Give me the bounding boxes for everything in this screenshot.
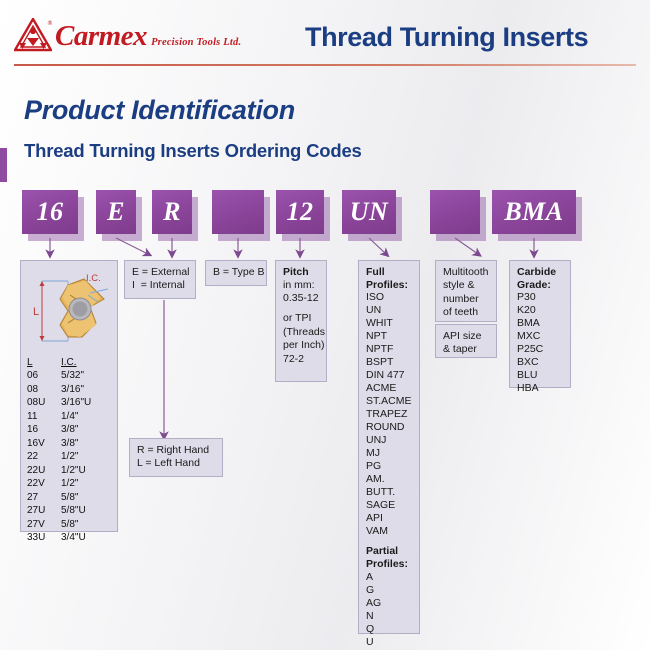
brand-name: Carmex: [55, 22, 147, 51]
pitch-title: Pitch: [283, 266, 319, 279]
svg-text:I.C.: I.C.: [86, 273, 101, 284]
hand-direction-line-0: R = Right Hand: [137, 444, 215, 457]
full-profile-item-10: ROUND: [366, 421, 412, 434]
partial-profiles-title: PartialProfiles:: [366, 545, 412, 570]
code-box-blank-3[interactable]: [212, 190, 264, 234]
page-title: Product Identification: [24, 95, 295, 126]
carbide-grade-title-line-1: Grade:: [517, 279, 563, 292]
external-internal-lines: E = ExternalI = Internal: [132, 266, 188, 293]
partial-profiles-title-line-0: Partial: [366, 545, 412, 558]
partial-profiles-title-line-1: Profiles:: [366, 558, 412, 571]
pitch-line-0: in mm:: [283, 279, 319, 292]
full-profiles-list: ISOUNWHITNPTNPTFBSPTDIN 477ACMEST.ACMETR…: [366, 291, 412, 538]
carmex-logo: ® Carmex Precision Tools Ltd.: [14, 18, 241, 52]
cell-ic: 5/8": [61, 518, 113, 532]
table-row: 083/16": [27, 383, 113, 397]
full-profile-item-0: ISO: [366, 291, 412, 304]
carbide-grade-item-1: K20: [517, 304, 563, 317]
carbide-grade-item-3: MXC: [517, 330, 563, 343]
cell-ic: 1/2"U: [61, 464, 113, 478]
full-profile-item-12: MJ: [366, 447, 412, 460]
full-profile-item-17: VAM: [366, 525, 412, 538]
multitooth-box: Multitoothstyle &numberof teeth: [435, 260, 497, 322]
carbide-grade-title: CarbideGrade:: [517, 266, 563, 291]
cell-ic: 5/8": [61, 491, 113, 505]
cell-ic: 3/8": [61, 423, 113, 437]
external-internal-line-1: I = Internal: [132, 279, 188, 292]
table-row: 16V3/8": [27, 437, 113, 451]
full-profile-item-11: UNJ: [366, 434, 412, 447]
table-row: 22V1/2": [27, 477, 113, 491]
multitooth-line-1: style &: [443, 279, 489, 292]
full-profile-item-8: ST.ACME: [366, 395, 412, 408]
cell-ic: 1/2": [61, 477, 113, 491]
insert-dimensions-box: L I.C. L I.C. 065/32"083/16"08U3/16"U111…: [20, 260, 118, 532]
pitch-tpi-line-3: 72-2: [283, 353, 319, 366]
pitch-lines: in mm:0.35-12: [283, 279, 319, 306]
multitooth-line-3: of teeth: [443, 306, 489, 319]
pitch-tpi-line-0: or TPI: [283, 312, 319, 325]
carmex-triangle-icon: ®: [14, 18, 52, 52]
table-row: 275/8": [27, 491, 113, 505]
table-row: 065/32": [27, 369, 113, 383]
full-profiles-title: FullProfiles:: [366, 266, 412, 291]
full-profile-item-7: ACME: [366, 382, 412, 395]
carbide-grade-box: CarbideGrade: P30K20BMAMXCP25CBXCBLUHBA: [509, 260, 571, 388]
partial-profile-item-4: Q: [366, 623, 412, 636]
pitch-box: Pitch in mm:0.35-12 or TPI(Threadsper In…: [275, 260, 327, 382]
col-header-l: L: [27, 357, 61, 369]
api-line-1: & taper: [443, 343, 489, 356]
hand-direction-line-1: L = Left Hand: [137, 457, 215, 470]
cell-l: 22V: [27, 477, 61, 491]
full-profile-item-1: UN: [366, 304, 412, 317]
cell-ic: 3/16": [61, 383, 113, 397]
table-header-row: L I.C.: [27, 357, 113, 369]
cell-l: 27V: [27, 518, 61, 532]
partial-profile-item-2: AG: [366, 597, 412, 610]
cell-ic: 3/8": [61, 437, 113, 451]
partial-profile-item-1: G: [366, 584, 412, 597]
table-row: 221/2": [27, 450, 113, 464]
full-profile-item-4: NPTF: [366, 343, 412, 356]
type-b-lines: B = Type B: [213, 266, 259, 279]
svg-text:L: L: [33, 306, 39, 318]
full-profile-item-3: NPT: [366, 330, 412, 343]
api-lines: API size& taper: [443, 330, 489, 357]
cell-l: 08U: [27, 396, 61, 410]
code-box-16[interactable]: 16: [22, 190, 78, 234]
type-b-box: B = Type B: [205, 260, 267, 286]
header-divider: [14, 64, 636, 66]
cell-l: 11: [27, 410, 61, 424]
type-b-line-0: B = Type B: [213, 266, 259, 279]
page-root: ® Carmex Precision Tools Ltd. Thread Tur…: [0, 0, 650, 650]
svg-text:®: ®: [47, 20, 52, 27]
cell-l: 33U: [27, 531, 61, 545]
full-profile-item-6: DIN 477: [366, 369, 412, 382]
multitooth-line-2: number: [443, 293, 489, 306]
full-profile-item-2: WHIT: [366, 317, 412, 330]
page-header: ® Carmex Precision Tools Ltd. Thread Tur…: [0, 0, 650, 80]
external-internal-box: E = ExternalI = Internal: [124, 260, 196, 299]
partial-profile-item-5: U: [366, 636, 412, 649]
carbide-grade-list: P30K20BMAMXCP25CBXCBLUHBA: [517, 291, 563, 395]
cell-l: 16V: [27, 437, 61, 451]
cell-ic: 3/4"U: [61, 531, 113, 545]
full-profile-item-15: SAGE: [366, 499, 412, 512]
partial-profile-item-3: N: [366, 610, 412, 623]
table-row: 33U3/4"U: [27, 531, 113, 545]
col-header-ic: I.C.: [61, 357, 113, 369]
table-row: 22U1/2"U: [27, 464, 113, 478]
cell-l: 06: [27, 369, 61, 383]
table-row: 27U5/8"U: [27, 504, 113, 518]
cell-ic: 3/16"U: [61, 396, 113, 410]
full-profiles-title-line-0: Full: [366, 266, 412, 279]
code-box-bma[interactable]: BMA: [492, 190, 576, 234]
insert-diagram-icon: L I.C.: [24, 265, 116, 357]
full-profile-item-16: API: [366, 512, 412, 525]
cell-l: 27U: [27, 504, 61, 518]
cell-l: 16: [27, 423, 61, 437]
cell-ic: 1/2": [61, 450, 113, 464]
cell-l: 08: [27, 383, 61, 397]
api-box: API size& taper: [435, 324, 497, 358]
carbide-grade-item-6: BLU: [517, 369, 563, 382]
code-box-e[interactable]: E: [96, 190, 136, 234]
partial-profiles-list: AGAGNQU: [366, 571, 412, 649]
pitch-tpi-line-2: per Inch): [283, 339, 319, 352]
brand-tagline: Precision Tools Ltd.: [151, 37, 241, 48]
cell-l: 27: [27, 491, 61, 505]
carbide-grade-item-0: P30: [517, 291, 563, 304]
insert-dimension-table: L I.C. 065/32"083/16"08U3/16"U111/4"163/…: [27, 357, 113, 545]
table-row: 08U3/16"U: [27, 396, 113, 410]
page-subtitle: Thread Turning Inserts Ordering Codes: [24, 140, 362, 162]
full-profile-item-13: PG: [366, 460, 412, 473]
carbide-grade-item-2: BMA: [517, 317, 563, 330]
cell-l: 22: [27, 450, 61, 464]
table-row: 163/8": [27, 423, 113, 437]
full-profile-item-14: AM. BUTT.: [366, 473, 412, 499]
hand-direction-lines: R = Right HandL = Left Hand: [137, 444, 215, 471]
pitch-tpi-line-1: (Threads: [283, 326, 319, 339]
external-internal-line-0: E = External: [132, 266, 188, 279]
left-accent-bar: [0, 148, 7, 182]
carbide-grade-item-5: BXC: [517, 356, 563, 369]
full-profile-item-5: BSPT: [366, 356, 412, 369]
carbide-grade-item-7: HBA: [517, 382, 563, 395]
multitooth-lines: Multitoothstyle &numberof teeth: [443, 266, 489, 320]
carbide-grade-item-4: P25C: [517, 343, 563, 356]
code-box-12[interactable]: 12: [276, 190, 324, 234]
pitch-tpi-lines: or TPI(Threadsper Inch)72-2: [283, 312, 319, 366]
profiles-box: FullProfiles: ISOUNWHITNPTNPTFBSPTDIN 47…: [358, 260, 420, 634]
hand-direction-box: R = Right HandL = Left Hand: [129, 438, 223, 477]
header-title: Thread Turning Inserts: [305, 22, 588, 53]
table-row: 27V5/8": [27, 518, 113, 532]
cell-ic: 5/8"U: [61, 504, 113, 518]
code-box-r[interactable]: R: [152, 190, 192, 234]
api-line-0: API size: [443, 330, 489, 343]
full-profile-item-9: TRAPEZ: [366, 408, 412, 421]
table-body: 065/32"083/16"08U3/16"U111/4"163/8"16V3/…: [27, 369, 113, 545]
carbide-grade-title-line-0: Carbide: [517, 266, 563, 279]
code-box-un[interactable]: UN: [342, 190, 396, 234]
pitch-line-1: 0.35-12: [283, 292, 319, 305]
cell-ic: 5/32": [61, 369, 113, 383]
table-row: 111/4": [27, 410, 113, 424]
multitooth-line-0: Multitooth: [443, 266, 489, 279]
cell-ic: 1/4": [61, 410, 113, 424]
code-box-blank-6[interactable]: [430, 190, 480, 234]
cell-l: 22U: [27, 464, 61, 478]
full-profiles-title-line-1: Profiles:: [366, 279, 412, 292]
partial-profile-item-0: A: [366, 571, 412, 584]
